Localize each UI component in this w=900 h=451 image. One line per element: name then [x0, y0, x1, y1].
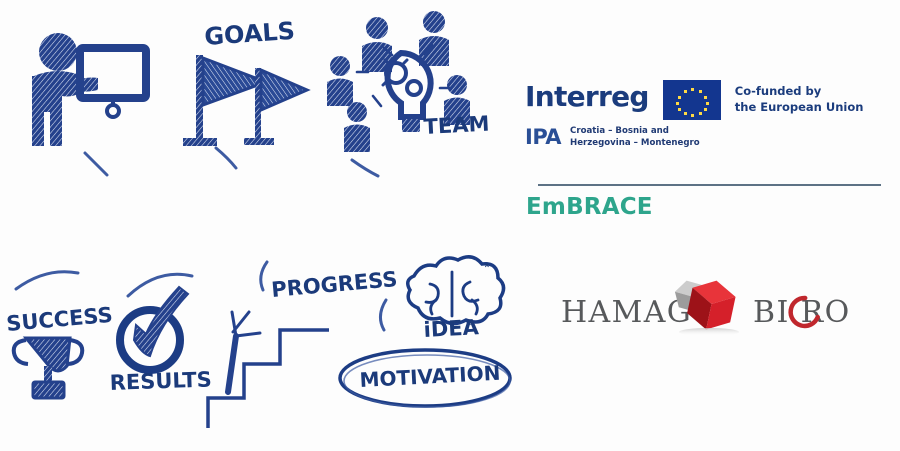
- eu-funding-text: Co-funded bythe European Union: [735, 84, 864, 115]
- idea-label: iDEA: [423, 315, 480, 342]
- sparkle-icon: *: [484, 259, 490, 276]
- goals-label: GOALS: [203, 17, 295, 51]
- section-divider: [538, 184, 881, 186]
- ipa-subtitle: Croatia – Bosnia andHerzegovina – Monten…: [570, 126, 700, 149]
- motivation-label: MOTIVATION: [359, 361, 501, 392]
- interreg-wordmark: Interreg: [525, 83, 649, 111]
- hamag-bicro-logo: HAMAG BI RO: [557, 270, 887, 340]
- hamag-wordmark-text: HAMAG: [561, 295, 692, 330]
- project-name-embrace: EmBRACE: [526, 194, 653, 220]
- doodle-illustration-panel: GOALS: [0, 0, 520, 451]
- presenter-with-board-icon: [32, 33, 146, 175]
- team-label: TEAM: [423, 112, 490, 139]
- eu-stars: [663, 80, 721, 120]
- motivation-oval-icon: MOTIVATION: [340, 350, 510, 407]
- progress-label: PROGRESS: [270, 267, 398, 302]
- success-label: SUCCESS: [5, 303, 113, 336]
- eu-flag-icon: [663, 80, 721, 120]
- ipa-wordmark: IPA: [525, 127, 561, 148]
- results-label: RESULTS: [109, 367, 212, 395]
- success-trophy-icon: SUCCESS: [5, 272, 113, 398]
- logos-panel: Interreg: [512, 0, 900, 451]
- goals-flags-icon: GOALS: [183, 17, 307, 168]
- progress-stairs-arrow-icon: PROGRESS: [208, 262, 398, 428]
- ipa-row: IPA Croatia – Bosnia andHerzegovina – Mo…: [525, 126, 890, 149]
- idea-brain-icon: * * iDEA: [380, 257, 503, 342]
- screenshot-canvas: GOALS: [0, 0, 900, 451]
- interreg-logo-block: Interreg: [525, 80, 890, 149]
- team-lightbulb-gears-icon: TEAM: [327, 11, 490, 176]
- results-checkmark-icon: RESULTS: [109, 274, 212, 395]
